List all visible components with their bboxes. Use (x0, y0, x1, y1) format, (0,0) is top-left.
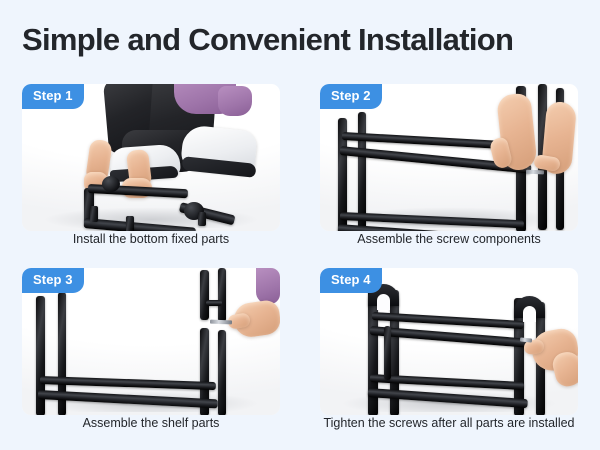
step-1-photo: Step 1 (22, 84, 280, 231)
installation-guide-page: Simple and Convenient Installation (0, 0, 600, 450)
arch-right-curve-cut (523, 306, 536, 322)
step-1-badge: Step 1 (22, 84, 84, 109)
step-3-caption: Assemble the shelf parts (22, 415, 280, 432)
step-4-badge: Step 4 (320, 268, 382, 293)
step-3-badge: Step 3 (22, 268, 84, 293)
step-3-photo: Step 3 (22, 268, 280, 415)
post-right-upper-front (200, 270, 209, 320)
post-right-upper-back (218, 268, 226, 322)
shirt-sliver (256, 268, 280, 304)
brace-right-top (206, 300, 222, 306)
step-2-badge: Step 2 (320, 84, 382, 109)
shirt-sleeve (218, 86, 252, 116)
step-2-photo: Step 2 (320, 84, 578, 231)
step-4-photo: Step 4 (320, 268, 578, 415)
floor-shadow (341, 207, 558, 228)
mid-brace-left (384, 326, 391, 380)
page-title: Simple and Convenient Installation (22, 20, 582, 60)
step-4-caption: Tighten the screws after all parts are i… (304, 415, 594, 432)
floor-shadow (341, 391, 558, 412)
screw (210, 320, 232, 325)
base-frame-connector-left (102, 176, 120, 192)
screw (526, 170, 544, 175)
step-card-1[interactable]: Step 1 Install the bottom fixed parts (22, 84, 280, 248)
steps-grid: Step 1 Install the bottom fixed parts (22, 84, 578, 432)
step-2-caption: Assemble the screw components (320, 231, 578, 248)
floor-shadow (43, 207, 260, 228)
step-1-caption: Install the bottom fixed parts (22, 231, 280, 248)
arch-left-curve-cut (377, 294, 390, 310)
floor-shadow (43, 391, 260, 412)
step-card-4[interactable]: Step 4 Tighten the screws after all part… (320, 268, 578, 432)
step-card-3[interactable]: Step 3 Assemble the shelf parts (22, 268, 280, 432)
step-card-2[interactable]: Step 2 Assemble the screw components (320, 84, 578, 248)
